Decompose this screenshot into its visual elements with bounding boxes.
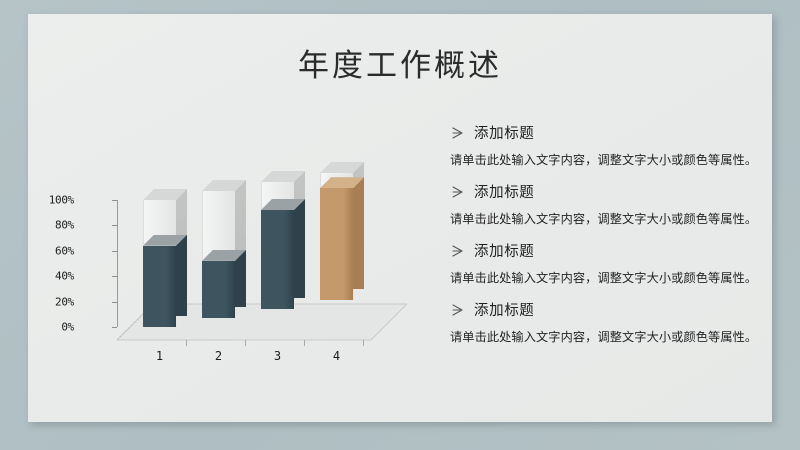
x-tick-mark: [304, 340, 305, 346]
bar-chart[interactable]: 0%20%40%60%80%100% 1234: [40, 164, 390, 364]
x-tick-mark: [245, 340, 246, 346]
y-tick-mark: [112, 276, 117, 277]
y-tick-label: 20%: [30, 295, 74, 308]
slide-frame: 年度工作概述 0%20%40%60%80%100% 1234 添加标题请单击此处…: [0, 0, 800, 450]
arrow-bullet-icon: [452, 186, 463, 198]
y-tick-label: 40%: [30, 270, 74, 283]
content-block-title: 添加标题: [474, 122, 534, 143]
content-block-4[interactable]: 添加标题请单击此处输入文字内容，调整文字大小或颜色等属性。: [426, 299, 766, 345]
content-block-title: 添加标题: [474, 240, 534, 261]
content-block-heading[interactable]: 添加标题: [426, 122, 766, 143]
x-tick-label: 2: [209, 349, 229, 363]
bar-front-face: [320, 188, 353, 300]
content-block-body: 请单击此处输入文字内容，调整文字大小或颜色等属性。: [426, 209, 766, 227]
content-block-title: 添加标题: [474, 181, 534, 202]
x-tick-label: 4: [327, 349, 347, 363]
arrow-bullet-icon: [452, 304, 463, 316]
content-block-heading[interactable]: 添加标题: [426, 181, 766, 202]
content-block-heading[interactable]: 添加标题: [426, 299, 766, 320]
y-tick-label: 0%: [30, 321, 74, 334]
arrow-bullet-icon: [452, 127, 463, 139]
content-block-body: 请单击此处输入文字内容，调整文字大小或颜色等属性。: [426, 327, 766, 345]
content-block-3[interactable]: 添加标题请单击此处输入文字内容，调整文字大小或颜色等属性。: [426, 240, 766, 286]
bar-side-face: [176, 235, 187, 316]
x-tick-mark: [186, 340, 187, 346]
y-tick-label: 100%: [30, 194, 74, 207]
bar-front-face: [143, 246, 176, 327]
content-block-body: 请单击此处输入文字内容，调整文字大小或颜色等属性。: [426, 268, 766, 286]
content-block-1[interactable]: 添加标题请单击此处输入文字内容，调整文字大小或颜色等属性。: [426, 122, 766, 168]
slide-canvas: 年度工作概述 0%20%40%60%80%100% 1234 添加标题请单击此处…: [28, 14, 772, 422]
bar-front-face: [261, 210, 294, 309]
bar-side-face: [294, 199, 305, 298]
content-text-column: 添加标题请单击此处输入文字内容，调整文字大小或颜色等属性。添加标题请单击此处输入…: [426, 122, 766, 358]
y-tick-label: 80%: [30, 219, 74, 232]
bar-side-face: [353, 177, 364, 289]
page-title: 年度工作概述: [28, 40, 772, 85]
arrow-bullet-icon: [452, 245, 463, 257]
y-tick-mark: [112, 225, 117, 226]
y-tick-mark: [112, 200, 117, 201]
x-tick-mark: [363, 340, 364, 346]
content-block-2[interactable]: 添加标题请单击此处输入文字内容，调整文字大小或颜色等属性。: [426, 181, 766, 227]
content-block-title: 添加标题: [474, 299, 534, 320]
y-tick-mark: [112, 251, 117, 252]
content-block-body: 请单击此处输入文字内容，调整文字大小或颜色等属性。: [426, 150, 766, 168]
x-tick-label: 3: [268, 349, 288, 363]
x-tick-label: 1: [150, 349, 170, 363]
y-tick-label: 60%: [30, 244, 74, 257]
content-block-heading[interactable]: 添加标题: [426, 240, 766, 261]
bar-front-face: [202, 261, 235, 318]
